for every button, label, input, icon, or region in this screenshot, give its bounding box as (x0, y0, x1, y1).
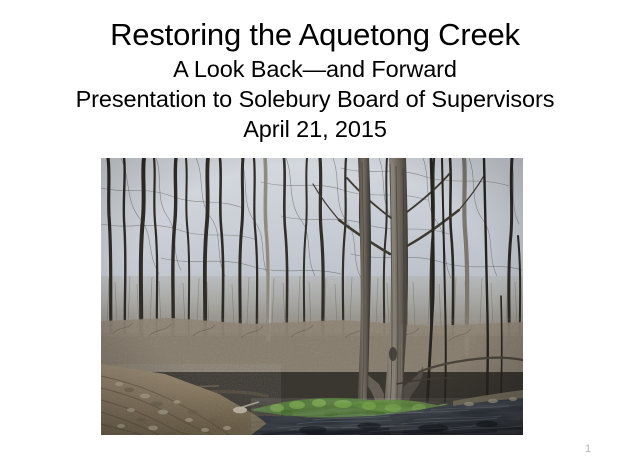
creek-photograph (101, 158, 523, 435)
subtitle-line-1: A Look Back—and Forward (0, 54, 630, 84)
presentation-date: April 21, 2015 (0, 114, 630, 144)
creek-photograph-image (101, 158, 523, 435)
subtitle-line-2: Presentation to Solebury Board of Superv… (0, 84, 630, 114)
page-title: Restoring the Aquetong Creek (0, 16, 630, 54)
page-number: 1 (578, 442, 598, 456)
title-block: Restoring the Aquetong Creek A Look Back… (0, 16, 630, 144)
slide-canvas: Restoring the Aquetong Creek A Look Back… (0, 0, 630, 473)
